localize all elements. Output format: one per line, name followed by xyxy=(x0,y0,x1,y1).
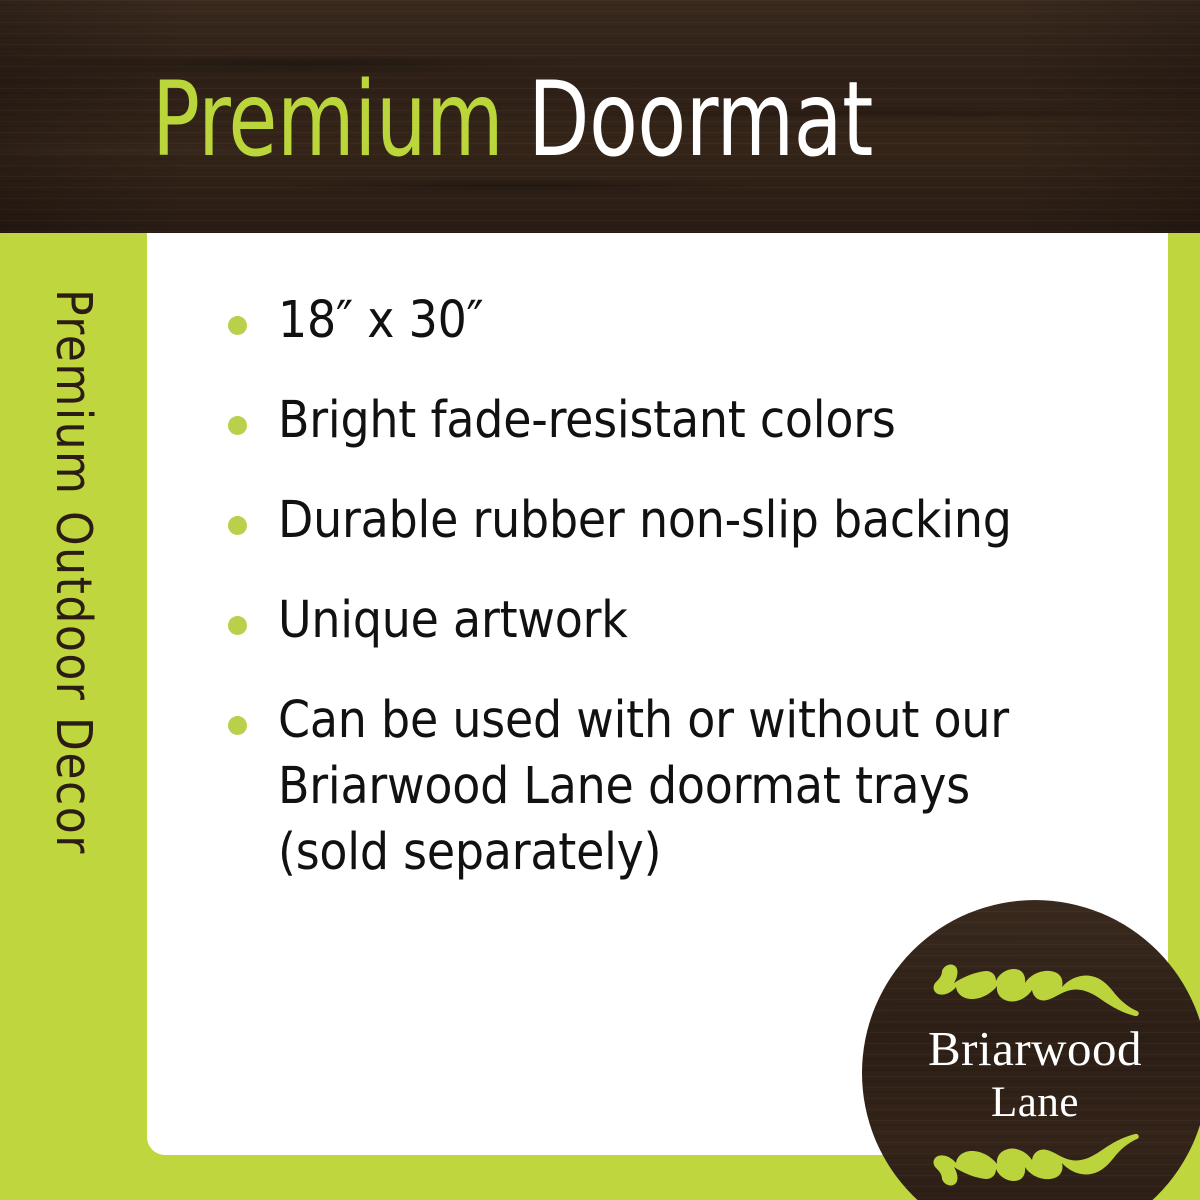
brand-name-line-2: Lane xyxy=(928,1081,1142,1124)
brand-wordmark: Briarwood Lane xyxy=(928,1024,1142,1124)
list-item-text: 18″ x 30″ xyxy=(278,288,1146,354)
product-feature-graphic: Premium Doormat Premium Outdoor Decor 18… xyxy=(0,0,1200,1200)
oak-leaf-icon xyxy=(930,962,1140,1020)
list-item: Unique artwork xyxy=(226,588,1146,654)
list-item-text: Bright fade-resistant colors xyxy=(278,388,1146,454)
list-item-text: Durable rubber non-slip backing xyxy=(278,488,1146,554)
left-green-rail xyxy=(0,233,147,1200)
page-title: Premium Doormat xyxy=(152,60,926,180)
page-title-accent: Premium xyxy=(152,60,503,180)
feature-list: 18″ x 30″ Bright fade-resistant colors D… xyxy=(226,288,1146,886)
bullet-dot-icon xyxy=(228,416,247,435)
brand-name-line-1: Briarwood xyxy=(928,1024,1142,1073)
list-item: Durable rubber non-slip backing xyxy=(226,488,1146,554)
list-item-text: Unique artwork xyxy=(278,588,1146,654)
brand-badge-content: Briarwood Lane xyxy=(862,900,1200,1200)
bullet-dot-icon xyxy=(228,616,247,635)
bullet-dot-icon xyxy=(228,516,247,535)
bullet-dot-icon xyxy=(228,316,247,335)
oak-leaf-icon xyxy=(930,1130,1140,1188)
header-band: Premium Doormat xyxy=(0,0,1200,233)
list-item: 18″ x 30″ xyxy=(226,288,1146,354)
list-item: Bright fade-resistant colors xyxy=(226,388,1146,454)
page-title-main: Doormat xyxy=(503,60,873,180)
brand-badge: Briarwood Lane xyxy=(862,900,1200,1200)
list-item: Can be used with or without ourBriarwood… xyxy=(226,688,1146,886)
list-item-text: Can be used with or without ourBriarwood… xyxy=(278,688,1146,886)
bullet-dot-icon xyxy=(228,716,247,735)
